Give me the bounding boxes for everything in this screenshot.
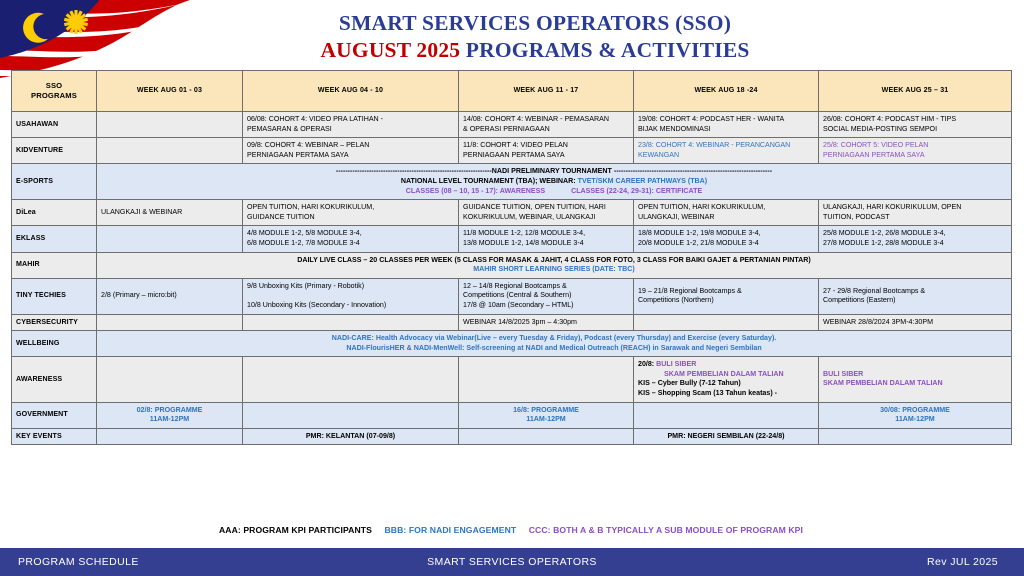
title-line-1: SMART SERVICES OPERATORS (SSO) [230, 10, 840, 37]
cell-line: Competitions (Northern) [638, 296, 814, 306]
merged-cell: NADI-CARE: Health Advocacy via Webinar(L… [97, 331, 1012, 357]
cell-text: 20/8: [638, 360, 654, 368]
cell-line: 2/8 (Primary – micro:bit) [101, 291, 238, 301]
cell-text: WEBINAR 28/8/2024 3PM-4:30PM [823, 318, 933, 326]
cell-r0-c3: 19/08: COHORT 4: PODCAST HER - WANITABIJ… [634, 112, 819, 138]
cell-text: PEMASARAN & OPERASI [247, 125, 332, 133]
cell-text: 27/8 MODULE 1-2, 28/8 MODULE 3-4 [823, 239, 944, 247]
cell-text: 12 – 14/8 Regional Bootcamps & [463, 282, 567, 290]
cell-r7-c1 [243, 314, 459, 331]
cell-text: KEWANGAN [638, 151, 679, 159]
cell-text-alt: CLASSES (22-24, 29-31): CERTIFICATE [571, 187, 702, 195]
table-body: USAHAWAN 06/08: COHORT 4: VIDEO PRA LATI… [12, 112, 1012, 445]
cell-line: OPEN TUITION, HARI KOKURIKULUM, [247, 203, 454, 213]
cell-line: KOKURIKULUM, WEBINAR, ULANGKAJI [463, 213, 629, 223]
footer-right: Rev JUL 2025 [927, 556, 998, 568]
cell-text: MAHIR SHORT LEARNING SERIES (DATE: TBC) [473, 265, 634, 273]
footer-bar: PROGRAM SCHEDULE SMART SERVICES OPERATOR… [0, 546, 1024, 576]
cell-text: ULANGKAJI & WEBINAR [101, 208, 182, 216]
cell-text: & OPERASI PERNIAGAAN [463, 125, 550, 133]
cell-text: PMR: NEGERI SEMBILAN (22-24/8) [667, 432, 784, 440]
cell-line: 12 – 14/8 Regional Bootcamps & [463, 282, 629, 292]
cell-line: GUIDANCE TUITION, OPEN TUITION, HARI [463, 203, 629, 213]
cell-line: ULANGKAJI, HARI KOKURIKULUM, OPEN [823, 203, 1007, 213]
cell-line: SKAM PEMBELIAN DALAM TALIAN [823, 379, 1007, 389]
cell-text: BIJAK MENDOMINASI [638, 125, 711, 133]
cell-text: 20/8 MODULE 1-2, 21/8 MODULE 3-4 [638, 239, 759, 247]
row-label-key-events: KEY EVENTS [12, 428, 97, 445]
cell-text: KIS – Shopping Scam (13 Tahun keatas) - [638, 389, 777, 397]
table-row: GOVERNMENT02/8: PROGRAMME11AM-12PM 16/8:… [12, 402, 1012, 428]
cell-r4-c3: 18/8 MODULE 1-2, 19/8 MODULE 3-4,20/8 MO… [634, 226, 819, 252]
cell-text: SOCIAL MEDIA-POSTING SEMPOI [823, 125, 937, 133]
cell-r1-c4: 25/8: COHORT 5: VIDEO PELANPERNIAGAAN PE… [819, 138, 1012, 164]
cell-line: 09/8: COHORT 4: WEBINAR – PELAN [247, 141, 454, 151]
cell-text: PERNIAGAAN PERTAMA SAYA [247, 151, 349, 159]
cell-r3-c2: GUIDANCE TUITION, OPEN TUITION, HARIKOKU… [459, 200, 634, 226]
cell-line: 9/8 Unboxing Kits (Primary - Robotik) [247, 282, 454, 292]
table-row: USAHAWAN 06/08: COHORT 4: VIDEO PRA LATI… [12, 112, 1012, 138]
cell-text: 11AM-12PM [895, 415, 934, 423]
row-label-mahir: MAHIR [12, 252, 97, 278]
row-label-kidventure: KIDVENTURE [12, 138, 97, 164]
table-row: AWARENESS 20/8: BULI SIBERSKAM PEMBELIAN… [12, 357, 1012, 402]
cell-r9-c3: 20/8: BULI SIBERSKAM PEMBELIAN DALAM TAL… [634, 357, 819, 402]
cell-text-alt: BULI SIBER [654, 360, 696, 368]
cell-line: ULANGKAJI & WEBINAR [101, 208, 238, 218]
table-row: KIDVENTURE 09/8: COHORT 4: WEBINAR – PEL… [12, 138, 1012, 164]
cell-r1-c2: 11/8: COHORT 4: VIDEO PELANPERNIAGAAN PE… [459, 138, 634, 164]
cell-r6-c1: 9/8 Unboxing Kits (Primary - Robotik) 10… [243, 278, 459, 314]
cell-line: GUIDANCE TUITION [247, 213, 454, 223]
cell-r1-c3: 23/8: COHORT 4: WEBINAR - PERANCANGANKEW… [634, 138, 819, 164]
cell-r6-c4: 27 - 29/8 Regional Bootcamps &Competitio… [819, 278, 1012, 314]
table-row: KEY EVENTS PMR: KELANTAN (07-09/8) PMR: … [12, 428, 1012, 445]
cell-r6-c2: 12 – 14/8 Regional Bootcamps &Competitio… [459, 278, 634, 314]
cell-line: 13/8 MODULE 1-2, 14/8 MODULE 3-4 [463, 239, 629, 249]
row-label-dilea: DiLea [12, 200, 97, 226]
cell-line: WEBINAR 14/8/2025 3pm – 4:30pm [463, 318, 629, 328]
row-label-tiny-techies: TINY TECHIES [12, 278, 97, 314]
cell-line: 4/8 MODULE 1-2, 5/8 MODULE 3-4, [247, 229, 454, 239]
table-row: CYBERSECURITY WEBINAR 14/8/2025 3pm – 4:… [12, 314, 1012, 331]
cell-text: KIS – Cyber Bully (7-12 Tahun) [638, 379, 741, 387]
cell-line: SOCIAL MEDIA-POSTING SEMPOI [823, 125, 1007, 135]
cell-r0-c1: 06/08: COHORT 4: VIDEO PRA LATIHAN -PEMA… [243, 112, 459, 138]
schedule-table-wrap: SSO PROGRAMS WEEK AUG 01 - 03 WEEK AUG 0… [11, 70, 1011, 445]
table-row: MAHIRDAILY LIVE CLASS – 20 CLASSES PER W… [12, 252, 1012, 278]
footer-left: PROGRAM SCHEDULE [18, 556, 139, 568]
cell-r6-c3: 19 – 21/8 Regional Bootcamps &Competitio… [634, 278, 819, 314]
table-row: E-SPORTS--------------------------------… [12, 164, 1012, 200]
cell-line: PERNIAGAAN PERTAMA SAYA [823, 151, 1007, 161]
cell-text: 19/08: COHORT 4: PODCAST HER - WANITA [638, 115, 784, 123]
cell-text: 18/8 MODULE 1-2, 19/8 MODULE 3-4, [638, 229, 761, 237]
cell-text: 13/8 MODULE 1-2, 14/8 MODULE 3-4 [463, 239, 584, 247]
cell-r11-c0 [97, 428, 243, 445]
header-week-5: WEEK AUG 25 – 31 [819, 71, 1012, 112]
cell-line: 17/8 @ 10am (Secondary – HTML) [463, 301, 629, 311]
cell-text: TUITION, PODCAST [823, 213, 890, 221]
cell-text: 4/8 MODULE 1-2, 5/8 MODULE 3-4, [247, 229, 362, 237]
cell-text: NATIONAL LEVEL TOURNAMENT (TBA); WEBINAR… [401, 177, 578, 185]
legend-strip: AAA: PROGRAM KPI PARTICIPANTS BBB: FOR N… [11, 525, 1011, 535]
cell-r4-c2: 11/8 MODULE 1-2, 12/8 MODULE 3-4,13/8 MO… [459, 226, 634, 252]
cell-text-alt: SKAM PEMBELIAN DALAM TALIAN [664, 370, 784, 378]
cell-text: 6/8 MODULE 1-2, 7/8 MODULE 3-4 [247, 239, 360, 247]
merged-cell: DAILY LIVE CLASS – 20 CLASSES PER WEEK (… [97, 252, 1012, 278]
cell-text: 16/8: PROGRAMME [513, 406, 579, 414]
cell-text: Competitions (Central & Southern) [463, 291, 571, 299]
cell-r7-c4: WEBINAR 28/8/2024 3PM-4:30PM [819, 314, 1012, 331]
title-suffix: PROGRAMS & ACTIVITIES [460, 38, 749, 62]
title-month: AUGUST 2025 [320, 38, 460, 62]
cell-text: 25/8 MODULE 1-2, 26/8 MODULE 3-4, [823, 229, 946, 237]
cell-r10-c0: 02/8: PROGRAMME11AM-12PM [97, 402, 243, 428]
cell-text: DAILY LIVE CLASS – 20 CLASSES PER WEEK (… [297, 256, 811, 264]
cell-r7-c3 [634, 314, 819, 331]
cell-r10-c2: 16/8: PROGRAMME11AM-12PM [459, 402, 634, 428]
cell-r9-c0 [97, 357, 243, 402]
cell-line: 30/08: PROGRAMME [823, 406, 1007, 416]
cell-line: 10/8 Unboxing Kits (Secondary - Innovati… [247, 301, 454, 311]
cell-line: 06/08: COHORT 4: VIDEO PRA LATIHAN - [247, 115, 454, 125]
cell-line: PERNIAGAAN PERTAMA SAYA [247, 151, 454, 161]
cell-line: 02/8: PROGRAMME [101, 406, 238, 416]
cell-text: KOKURIKULUM, WEBINAR, ULANGKAJI [463, 213, 595, 221]
cell-line: 27/8 MODULE 1-2, 28/8 MODULE 3-4 [823, 239, 1007, 249]
header-week-4: WEEK AUG 18 -24 [634, 71, 819, 112]
cell-line: KIS – Cyber Bully (7-12 Tahun) [638, 379, 814, 389]
cell-line: 11AM-12PM [823, 415, 1007, 425]
cell-text: Competitions (Eastern) [823, 296, 896, 304]
cell-text: GUIDANCE TUITION [247, 213, 315, 221]
merged-cell: ----------------------------------------… [97, 164, 1012, 200]
title-line-2: AUGUST 2025 PROGRAMS & ACTIVITIES [230, 37, 840, 64]
cell-r10-c1 [243, 402, 459, 428]
legend-bbb: BBB: FOR NADI ENGAGEMENT [384, 525, 516, 535]
cell-text: 19 – 21/8 Regional Bootcamps & [638, 287, 742, 295]
cell-line: ----------------------------------------… [101, 167, 1007, 177]
cell-line: 6/8 MODULE 1-2, 7/8 MODULE 3-4 [247, 239, 454, 249]
cell-text: 10/8 Unboxing Kits (Secondary - Innovati… [247, 301, 386, 309]
cell-text: WEBINAR 14/8/2025 3pm – 4:30pm [463, 318, 577, 326]
row-label-cybersecurity: CYBERSECURITY [12, 314, 97, 331]
cell-r0-c4: 26/08: COHORT 4: PODCAST HIM - TIPSSOCIA… [819, 112, 1012, 138]
legend-aaa: AAA: PROGRAM KPI PARTICIPANTS [219, 525, 372, 535]
cell-r10-c4: 30/08: PROGRAMME11AM-12PM [819, 402, 1012, 428]
cell-line: Competitions (Central & Southern) [463, 291, 629, 301]
cell-line: ULANGKAJI, WEBINAR [638, 213, 814, 223]
cell-r10-c3 [634, 402, 819, 428]
page-title: SMART SERVICES OPERATORS (SSO) AUGUST 20… [230, 10, 840, 64]
cell-line: 23/8: COHORT 4: WEBINAR - PERANCANGAN [638, 141, 814, 151]
cell-text: 11/8: COHORT 4: VIDEO PELAN [463, 141, 568, 149]
cell-text: 14/08: COHORT 4: WEBINAR - PEMASARAN [463, 115, 609, 123]
cell-line: 20/8: BULI SIBER [638, 360, 814, 370]
cell-text: 02/8: PROGRAMME [137, 406, 203, 414]
cell-r3-c4: ULANGKAJI, HARI KOKURIKULUM, OPENTUITION… [819, 200, 1012, 226]
cell-line: 11AM-12PM [101, 415, 238, 425]
cell-line: 11/8: COHORT 4: VIDEO PELAN [463, 141, 629, 151]
cell-text: BULI SIBER [823, 370, 863, 378]
header-row: SSO PROGRAMS WEEK AUG 01 - 03 WEEK AUG 0… [12, 71, 1012, 112]
cell-r9-c4: BULI SIBERSKAM PEMBELIAN DALAM TALIAN [819, 357, 1012, 402]
row-label-government: GOVERNMENT [12, 402, 97, 428]
cell-line: 25/8: COHORT 5: VIDEO PELAN [823, 141, 1007, 151]
cell-text: 9/8 Unboxing Kits (Primary - Robotik) [247, 282, 364, 290]
cell-r6-c0: 2/8 (Primary – micro:bit) [97, 278, 243, 314]
cell-line: KIS – Shopping Scam (13 Tahun keatas) - [638, 389, 814, 399]
cell-line: 26/08: COHORT 4: PODCAST HIM - TIPS [823, 115, 1007, 125]
cell-line: PEMASARAN & OPERASI [247, 125, 454, 135]
row-label-eklass: EKLASS [12, 226, 97, 252]
cell-line: NADI-FlourisHER & NADI-MenWell: Self-scr… [101, 344, 1007, 354]
cell-line: TUITION, PODCAST [823, 213, 1007, 223]
cell-text: NADI-FlourisHER & NADI-MenWell: Self-scr… [346, 344, 761, 352]
cell-r11-c3: PMR: NEGERI SEMBILAN (22-24/8) [634, 428, 819, 445]
cell-text: 2/8 (Primary – micro:bit) [101, 291, 177, 299]
cell-line: 19/08: COHORT 4: PODCAST HER - WANITA [638, 115, 814, 125]
cell-r7-c0 [97, 314, 243, 331]
cell-r7-c2: WEBINAR 14/8/2025 3pm – 4:30pm [459, 314, 634, 331]
cell-r3-c0: ULANGKAJI & WEBINAR [97, 200, 243, 226]
cell-line: 27 - 29/8 Regional Bootcamps & [823, 287, 1007, 297]
header-sso-programs: SSO PROGRAMS [12, 71, 97, 112]
table-row: WELLBEINGNADI-CARE: Health Advocacy via … [12, 331, 1012, 357]
cell-text: 06/08: COHORT 4: VIDEO PRA LATIHAN - [247, 115, 383, 123]
row-label-wellbeing: WELLBEING [12, 331, 97, 357]
cell-line: PMR: KELANTAN (07-09/8) [247, 432, 454, 442]
cell-r4-c4: 25/8 MODULE 1-2, 26/8 MODULE 3-4,27/8 MO… [819, 226, 1012, 252]
table-row: EKLASS 4/8 MODULE 1-2, 5/8 MODULE 3-4,6/… [12, 226, 1012, 252]
cell-text: 11/8 MODULE 1-2, 12/8 MODULE 3-4, [463, 229, 585, 237]
legend-ccc: CCC: BOTH A & B TYPICALLY A SUB MODULE O… [529, 525, 803, 535]
row-label-usahawan: USAHAWAN [12, 112, 97, 138]
cell-line: 11/8 MODULE 1-2, 12/8 MODULE 3-4, [463, 229, 629, 239]
cell-r9-c2 [459, 357, 634, 402]
cell-line: SKAM PEMBELIAN DALAM TALIAN [638, 370, 814, 380]
cell-text: ULANGKAJI, HARI KOKURIKULUM, OPEN [823, 203, 961, 211]
cell-text: 27 - 29/8 Regional Bootcamps & [823, 287, 925, 295]
cell-line: 11AM-12PM [463, 415, 629, 425]
cell-line: 16/8: PROGRAMME [463, 406, 629, 416]
cell-text: PMR: KELANTAN (07-09/8) [306, 432, 395, 440]
cell-r11-c4 [819, 428, 1012, 445]
header-week-3: WEEK AUG 11 - 17 [459, 71, 634, 112]
cell-line: PMR: NEGERI SEMBILAN (22-24/8) [638, 432, 814, 442]
cell-line: NADI-CARE: Health Advocacy via Webinar(L… [101, 334, 1007, 344]
cell-text: 30/08: PROGRAMME [880, 406, 950, 414]
row-label-awareness: AWARENESS [12, 357, 97, 402]
cell-text: NADI-CARE: Health Advocacy via Webinar(L… [332, 334, 777, 342]
cell-text-alt: TVET/SKM CAREER PATHWAYS (TBA) [578, 177, 708, 185]
cell-r11-c1: PMR: KELANTAN (07-09/8) [243, 428, 459, 445]
cell-r0-c2: 14/08: COHORT 4: WEBINAR - PEMASARAN& OP… [459, 112, 634, 138]
cell-line: BIJAK MENDOMINASI [638, 125, 814, 135]
header-week-2: WEEK AUG 04 - 10 [243, 71, 459, 112]
cell-line: 18/8 MODULE 1-2, 19/8 MODULE 3-4, [638, 229, 814, 239]
cell-line: Competitions (Eastern) [823, 296, 1007, 306]
cell-r11-c2 [459, 428, 634, 445]
row-label-e-sports: E-SPORTS [12, 164, 97, 200]
cell-text: OPEN TUITION, HARI KOKURIKULUM, [247, 203, 374, 211]
cell-text: GUIDANCE TUITION, OPEN TUITION, HARI [463, 203, 606, 211]
cell-r3-c1: OPEN TUITION, HARI KOKURIKULUM,GUIDANCE … [243, 200, 459, 226]
cell-line: KEWANGAN [638, 151, 814, 161]
cell-r9-c1 [243, 357, 459, 402]
cell-line: 25/8 MODULE 1-2, 26/8 MODULE 3-4, [823, 229, 1007, 239]
header-week-1: WEEK AUG 01 - 03 [97, 71, 243, 112]
cell-text: 11AM-12PM [526, 415, 565, 423]
cell-line: OPEN TUITION, HARI KOKURIKULUM, [638, 203, 814, 213]
cell-text: PERNIAGAAN PERTAMA SAYA [823, 151, 925, 159]
footer-middle: SMART SERVICES OPERATORS [0, 556, 1024, 568]
cell-text: ULANGKAJI, WEBINAR [638, 213, 714, 221]
cell-text: PERNIAGAAN PERTAMA SAYA [463, 151, 565, 159]
cell-text: 23/8: COHORT 4: WEBINAR - PERANCANGAN [638, 141, 790, 149]
cell-r1-c0 [97, 138, 243, 164]
table-row: TINY TECHIES2/8 (Primary – micro:bit)9/8… [12, 278, 1012, 314]
cell-line: 19 – 21/8 Regional Bootcamps & [638, 287, 814, 297]
cell-text: 17/8 @ 10am (Secondary – HTML) [463, 301, 574, 309]
cell-text: 26/08: COHORT 4: PODCAST HIM - TIPS [823, 115, 956, 123]
cell-r4-c1: 4/8 MODULE 1-2, 5/8 MODULE 3-4,6/8 MODUL… [243, 226, 459, 252]
cell-text: 25/8: COHORT 5: VIDEO PELAN [823, 141, 928, 149]
cell-text: CLASSES (08 – 10, 15 - 17): AWARENESS [406, 187, 545, 195]
cell-line: WEBINAR 28/8/2024 3PM-4:30PM [823, 318, 1007, 328]
cell-text: Competitions (Northern) [638, 296, 714, 304]
cell-text: OPEN TUITION, HARI KOKURIKULUM, [638, 203, 765, 211]
cell-text: 09/8: COHORT 4: WEBINAR – PELAN [247, 141, 369, 149]
table-header: SSO PROGRAMS WEEK AUG 01 - 03 WEEK AUG 0… [12, 71, 1012, 112]
cell-line: BULI SIBER [823, 370, 1007, 380]
cell-line: NATIONAL LEVEL TOURNAMENT (TBA); WEBINAR… [101, 177, 1007, 187]
cell-line: DAILY LIVE CLASS – 20 CLASSES PER WEEK (… [101, 256, 1007, 266]
cell-line: & OPERASI PERNIAGAAN [463, 125, 629, 135]
cell-r1-c1: 09/8: COHORT 4: WEBINAR – PELANPERNIAGAA… [243, 138, 459, 164]
cell-line: PERNIAGAAN PERTAMA SAYA [463, 151, 629, 161]
table-row: DiLeaULANGKAJI & WEBINAROPEN TUITION, HA… [12, 200, 1012, 226]
cell-line: CLASSES (08 – 10, 15 - 17): AWARENESSCLA… [101, 187, 1007, 197]
cell-line: 14/08: COHORT 4: WEBINAR - PEMASARAN [463, 115, 629, 125]
cell-r3-c3: OPEN TUITION, HARI KOKURIKULUM,ULANGKAJI… [634, 200, 819, 226]
cell-r0-c0 [97, 112, 243, 138]
cell-r4-c0 [97, 226, 243, 252]
cell-text: ----------------------------------------… [336, 167, 772, 175]
schedule-table: SSO PROGRAMS WEEK AUG 01 - 03 WEEK AUG 0… [11, 70, 1012, 445]
cell-text: SKAM PEMBELIAN DALAM TALIAN [823, 379, 943, 387]
cell-line: 20/8 MODULE 1-2, 21/8 MODULE 3-4 [638, 239, 814, 249]
cell-line: MAHIR SHORT LEARNING SERIES (DATE: TBC) [101, 265, 1007, 275]
cell-line [247, 291, 454, 301]
cell-text: 11AM-12PM [150, 415, 189, 423]
